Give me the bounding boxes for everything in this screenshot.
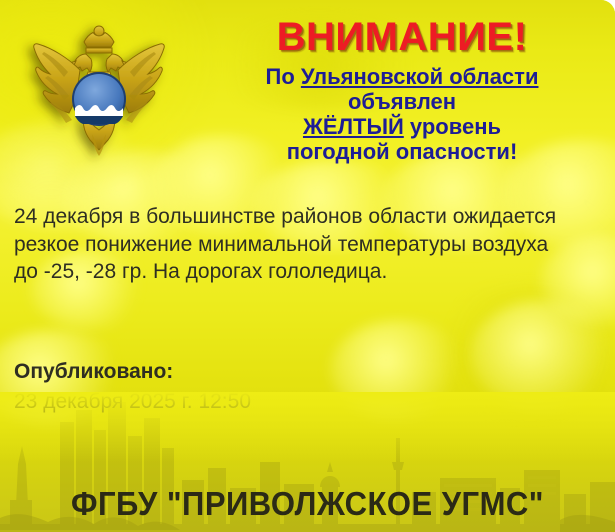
warning-level-name: ЖЁЛТЫЙ [303,114,404,139]
warning-line1-prefix: По [266,64,301,89]
warning-line2: объявлен [348,89,456,114]
warning-line3-suffix: уровень [404,114,501,139]
warning-region-name: Ульяновской области [301,64,539,89]
forecast-body-text: 24 декабря в большинстве районов области… [14,203,562,286]
roshydromet-emblem-icon [14,14,184,172]
attention-heading: ВНИМАНИЕ! [196,16,608,58]
weather-warning-poster: ВНИМАНИЕ! По Ульяновской области объявле… [0,0,615,532]
organization-wordmark: ФГБУ "ПРИВОЛЖСКОЕ УГМС" [18,485,596,523]
header-block: ВНИМАНИЕ! По Ульяновской области объявле… [196,16,608,164]
warning-line4: погодной опасности! [287,139,518,164]
published-label: Опубликовано: [14,357,251,387]
warning-statement: По Ульяновской области объявлен ЖЁЛТЫЙ у… [196,64,608,164]
